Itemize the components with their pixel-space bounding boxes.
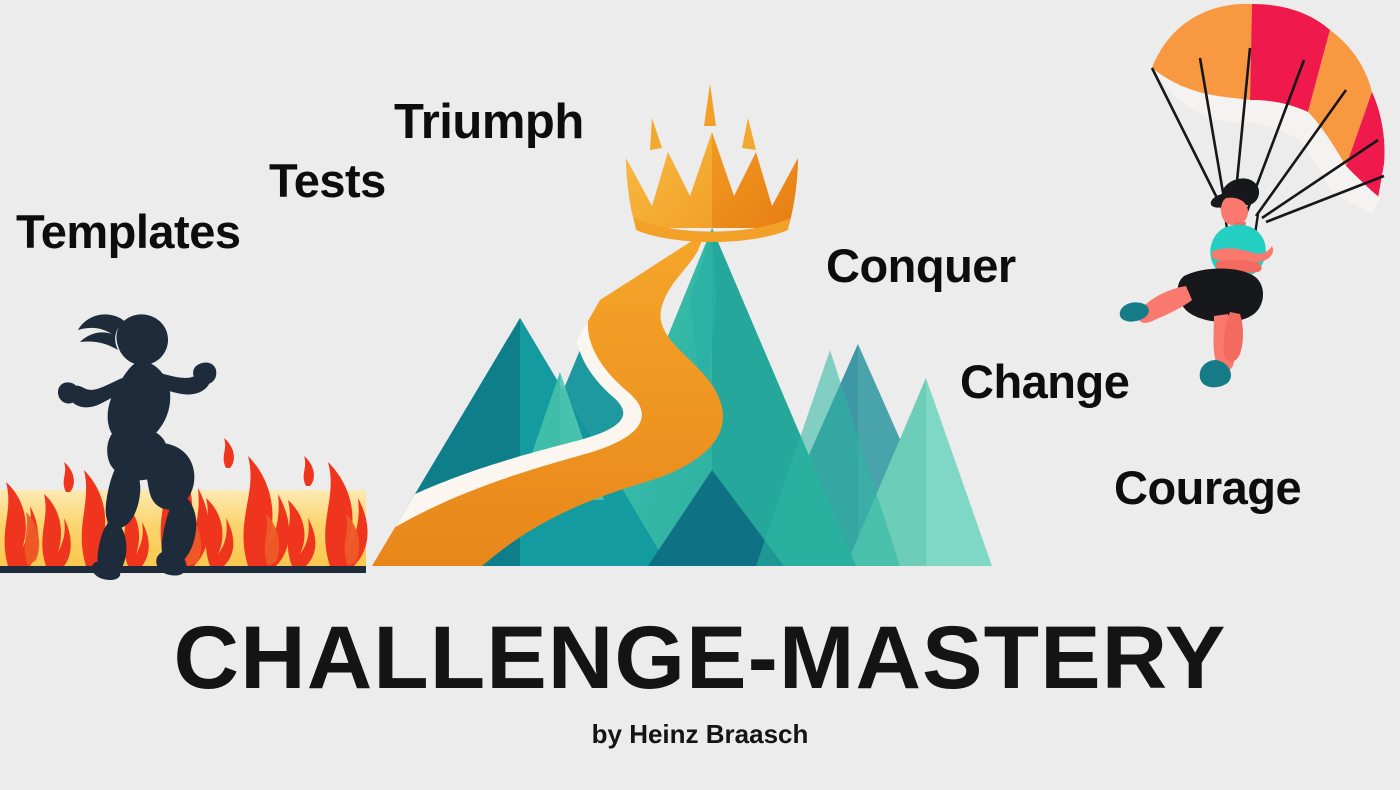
jumper-shorts [1178,269,1263,323]
crown-sparkle-center-icon [704,84,716,126]
crown-group [626,84,798,242]
crown-sparkle-right-icon [742,118,756,150]
keyword-label-courage: Courage [1114,464,1301,511]
keyword-label-tests: Tests [269,157,386,204]
keyword-label-triumph: Triumph [394,98,584,147]
keyword-label-conquer: Conquer [826,242,1016,289]
author-byline: by Heinz Braasch [0,719,1400,750]
brand-block: CHALLENGE-MASTERY by Heinz Braasch [0,612,1400,750]
crown-icon-left [626,132,712,228]
jumper-leg-upper-front [1138,286,1192,323]
keyword-label-templates: Templates [16,208,241,255]
crown-sparkle-left-icon [650,118,662,150]
page-title: CHALLENGE-MASTERY [0,612,1400,703]
illustration-canvas: Templates Tests Triumph Conquer Change C… [0,0,1400,790]
keyword-label-change: Change [960,358,1129,405]
parachute-jumper-group [1120,4,1385,388]
